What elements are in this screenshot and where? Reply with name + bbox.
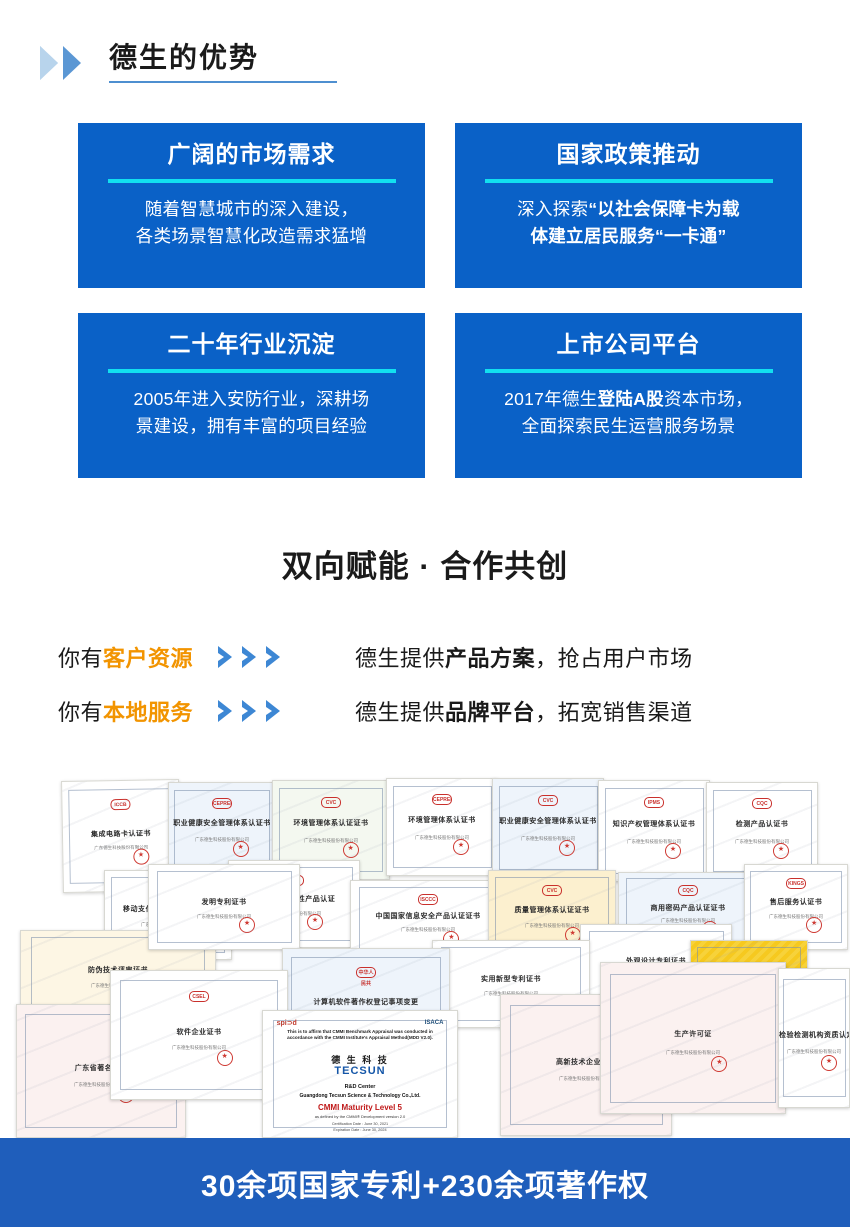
official-seal-icon <box>217 1050 233 1066</box>
card-body-line: 各类场景智慧化改造需求猛增 <box>136 223 367 250</box>
certification-body-logo: CEPREI <box>212 798 232 809</box>
certification-body-logo: 中华人民共 <box>356 967 376 978</box>
card-body-plain: 深入探索 <box>517 199 588 219</box>
certificate-card: KINGS售后服务认证书广东德生科技股份有限公司 <box>744 864 848 950</box>
official-seal-icon <box>453 839 469 855</box>
certificate-title: 实用新型专利证书 <box>433 974 589 984</box>
page-title: 德生的优势 <box>109 44 337 81</box>
chevron-right-icon <box>239 642 261 672</box>
certificate-card: CEPREI环境管理体系认证书广东德生科技股份有限公司 <box>386 778 498 876</box>
card-body-line: 2005年进入安防行业，深耕场 <box>134 386 370 413</box>
synergy-left-highlight: 客户资源 <box>103 646 193 671</box>
footer-banner: 30余项国家专利+230余项著作权 <box>0 1138 850 1227</box>
card-body-line: 景建设，拥有丰富的项目经验 <box>134 413 370 440</box>
card-body-bold: 登陆A股 <box>598 389 664 409</box>
card-title: 广阔的市场需求 <box>168 142 336 167</box>
card-body-line: 深入探索“以社会保障卡为载 <box>517 196 740 223</box>
advantage-card-national-policy: 国家政策推动 深入探索“以社会保障卡为载 体建立居民服务“一卡通” <box>455 123 802 288</box>
synergy-right-prefix: 德生提供 <box>355 700 445 725</box>
official-seal-icon <box>233 841 249 857</box>
certificate-title: 计算机软件著作权登记事项变更 <box>283 997 449 1007</box>
certificate-subline: 广东德生科技股份有限公司 <box>351 927 505 933</box>
tecsun-brand-cn: 德 生 科 技 <box>331 1053 389 1066</box>
card-body: 2005年进入安防行业，深耕场 景建设，拥有丰富的项目经验 <box>134 386 370 440</box>
certification-body-logo: CQC <box>678 885 698 896</box>
certificate-title: 知识产权管理体系认证书 <box>599 819 709 829</box>
certificate-card: 生产许可证广东德生科技股份有限公司 <box>600 962 786 1114</box>
official-seal-icon <box>665 843 681 859</box>
card-divider <box>485 179 773 183</box>
synergy-right-bold: 品牌平台 <box>445 700 535 725</box>
company-name: Guangdong Tecsun Science & Technology Co… <box>263 1093 457 1099</box>
synergy-right-text: 德生提供产品方案，抢占用户市场 <box>355 641 693 673</box>
synergy-left-prefix: 你有 <box>58 700 103 725</box>
card-divider <box>108 179 396 183</box>
card-body-plain: 2017年德生 <box>504 389 598 409</box>
synergy-right-bold: 产品方案 <box>445 646 535 671</box>
card-title: 二十年行业沉淀 <box>168 332 336 357</box>
card-divider <box>485 369 773 373</box>
certificate-collage: ICCB集成电路卡认证书广东德生科技股份有限公司CEPREI职业健康安全管理体系… <box>0 772 850 1138</box>
card-body-bold: 体建立居民服务“一卡通” <box>530 226 726 246</box>
certificate-title: 集成电路卡认证书 <box>63 828 179 840</box>
certificate-card: 检验检测机构资质认定证书广东德生科技股份有限公司 <box>778 968 850 1108</box>
tecsun-brand-en: TECSUN <box>334 1065 385 1077</box>
certificate-title: 检测产品认证书 <box>707 819 817 829</box>
cmmi-certificate-card: spi⊃dISACAThis is to affirm that CMMI Be… <box>262 1010 458 1138</box>
certificate-title: 软件企业证书 <box>111 1027 287 1037</box>
advantage-cards: 广阔的市场需求 随着智慧城市的深入建设， 各类场景智慧化改造需求猛增 国家政策推… <box>78 123 772 478</box>
certificate-title: 环境管理体系认证证书 <box>273 818 389 828</box>
certificate-title: 售后服务认证书 <box>745 897 847 907</box>
certificate-title: 质量管理体系认证证书 <box>489 905 615 915</box>
section-header: 德生的优势 <box>0 28 850 98</box>
certificate-subline: 广东德生科技股份有限公司 <box>169 837 275 843</box>
card-body-line: 全面探索民生运营服务场景 <box>504 413 753 440</box>
certification-body-logo: CVC <box>321 797 341 808</box>
official-seal-icon <box>239 917 255 933</box>
header-chevrons <box>38 44 87 82</box>
chevron-right-icon <box>263 642 285 672</box>
certificate-title: 检验检测机构资质认定证书 <box>779 1030 849 1040</box>
expiration-date: Expiration Date : June 30, 2024 <box>263 1128 457 1132</box>
certificate-title: 中国国家信息安全产品认证证书 <box>351 911 505 921</box>
chevron-right-icon <box>61 44 87 82</box>
certificate-title: 生产许可证 <box>601 1029 785 1039</box>
certificate-title: 发明专利证书 <box>149 897 299 907</box>
synergy-title: 双向赋能 · 合作共创 <box>0 541 850 586</box>
official-seal-icon <box>821 1055 837 1071</box>
synergy-row-customer-resource: 你有客户资源 德生提供产品方案，抢占用户市场 <box>0 630 850 684</box>
certification-body-logo: IPMS <box>644 797 664 808</box>
advantage-card-industry-experience: 二十年行业沉淀 2005年进入安防行业，深耕场 景建设，拥有丰富的项目经验 <box>78 313 425 478</box>
certificate-title: 职业健康安全管理体系认证书 <box>493 816 603 826</box>
certificate-subline: 广东德生科技股份有限公司 <box>779 1049 849 1055</box>
card-title: 上市公司平台 <box>557 332 701 357</box>
certification-body-logo: KINGS <box>786 878 806 889</box>
isaca-logo: ISACA <box>425 1020 444 1026</box>
certificate-frame <box>157 871 292 943</box>
certificate-subline: 广东德生科技股份有限公司 <box>387 835 497 841</box>
certification-body-logo: CQC <box>752 798 772 809</box>
synergy-right-tail: ，抢占用户市场 <box>535 646 693 671</box>
card-body-bold: “以社会保障卡为载 <box>588 199 739 219</box>
card-body: 2017年德生登陆A股资本市场， 全面探索民生运营服务场景 <box>504 386 753 440</box>
chevron-right-icon <box>263 696 285 726</box>
certification-date: Certification Date : June 30, 2021 <box>263 1122 457 1126</box>
card-body: 随着智慧城市的深入建设， 各类场景智慧化改造需求猛增 <box>136 196 367 250</box>
certificate-subline: 广东德生科技股份有限公司 <box>707 839 817 845</box>
certificate-subline: 广东德生科技股份有限公司 <box>493 836 603 842</box>
synergy-left-text: 你有客户资源 <box>58 641 193 673</box>
certificate-card: CVC职业健康安全管理体系认证书广东德生科技股份有限公司 <box>492 778 604 878</box>
synergy-right-prefix: 德生提供 <box>355 646 445 671</box>
card-body-line: 2017年德生登陆A股资本市场， <box>504 386 753 413</box>
official-seal-icon <box>773 843 789 859</box>
certification-body-logo: CVC <box>542 885 562 896</box>
official-seal-icon <box>343 842 359 858</box>
synergy-left-text: 你有本地服务 <box>58 695 193 727</box>
rd-center-label: R&D Center <box>263 1084 457 1090</box>
chevron-right-icon <box>239 696 261 726</box>
card-body: 深入探索“以社会保障卡为载 体建立居民服务“一卡通” <box>517 196 740 250</box>
card-body-line: 体建立居民服务“一卡通” <box>517 223 740 250</box>
synergy-row-local-service: 你有本地服务 德生提供品牌平台，拓宽销售渠道 <box>0 684 850 738</box>
advantage-card-market-demand: 广阔的市场需求 随着智慧城市的深入建设， 各类场景智慧化改造需求猛增 <box>78 123 425 288</box>
certificate-card: IPMS知识产权管理体系认证书广东德生科技股份有限公司 <box>598 780 710 882</box>
certification-body-logo: CVC <box>538 795 558 806</box>
certification-body-logo: ISCCC <box>418 894 438 905</box>
cmmi-statement: This is to affirm that CMMI Benchmark Ap… <box>275 1029 446 1041</box>
certificate-subline: 广东德生科技股份有限公司 <box>599 839 709 845</box>
synergy-rows: 你有客户资源 德生提供产品方案，抢占用户市场 你有本地服务 德生提供品牌平台，拓… <box>0 630 850 738</box>
certificate-title: 环境管理体系认证书 <box>387 815 497 825</box>
card-title: 国家政策推动 <box>557 142 701 167</box>
card-body-tail: 资本市场， <box>664 389 753 409</box>
synergy-left-prefix: 你有 <box>58 646 103 671</box>
card-body-line: 随着智慧城市的深入建设， <box>136 196 367 223</box>
certification-body-logo: CEPREI <box>432 794 452 805</box>
certificate-subline: 广东德生科技股份有限公司 <box>745 914 847 920</box>
certification-body-logo: CSEL <box>189 991 209 1002</box>
title-underline <box>109 81 337 83</box>
chevron-right-icon <box>215 696 237 726</box>
certificate-card: 发明专利证书广东德生科技股份有限公司 <box>148 864 300 950</box>
chevron-right-icon <box>215 642 237 672</box>
footer-text: 30余项国家专利+230余项著作权 <box>201 1161 649 1205</box>
certificate-subline: 广东德生科技股份有限公司 <box>111 1045 287 1051</box>
certificate-subline: 广东德生科技股份有限公司 <box>149 914 299 920</box>
official-seal-icon <box>559 840 575 856</box>
synergy-arrows <box>215 696 311 726</box>
certificate-subline: 广东德生科技股份有限公司 <box>601 1050 785 1056</box>
certificate-title: 商用密码产品认证证书 <box>619 903 757 913</box>
certificate-title: 职业健康安全管理体系认证书 <box>169 818 275 828</box>
synergy-left-highlight: 本地服务 <box>103 700 193 725</box>
certificate-subline: 广东德生科技股份有限公司 <box>273 838 389 844</box>
card-divider <box>108 369 396 373</box>
cmmi-level: CMMI Maturity Level 5 <box>263 1103 457 1112</box>
certification-body-logo: ICCB <box>110 798 130 809</box>
synergy-right-tail: ，拓宽销售渠道 <box>535 700 693 725</box>
synergy-right-text: 德生提供品牌平台，拓宽销售渠道 <box>355 695 693 727</box>
synergy-arrows <box>215 642 311 672</box>
advantage-card-listed-company: 上市公司平台 2017年德生登陆A股资本市场， 全面探索民生运营服务场景 <box>455 313 802 478</box>
cmmi-defined-by: as defined by the CMMI® Development vers… <box>263 1114 457 1119</box>
official-seal-icon <box>133 849 149 865</box>
spid-logo: spi⊃d <box>277 1019 297 1027</box>
